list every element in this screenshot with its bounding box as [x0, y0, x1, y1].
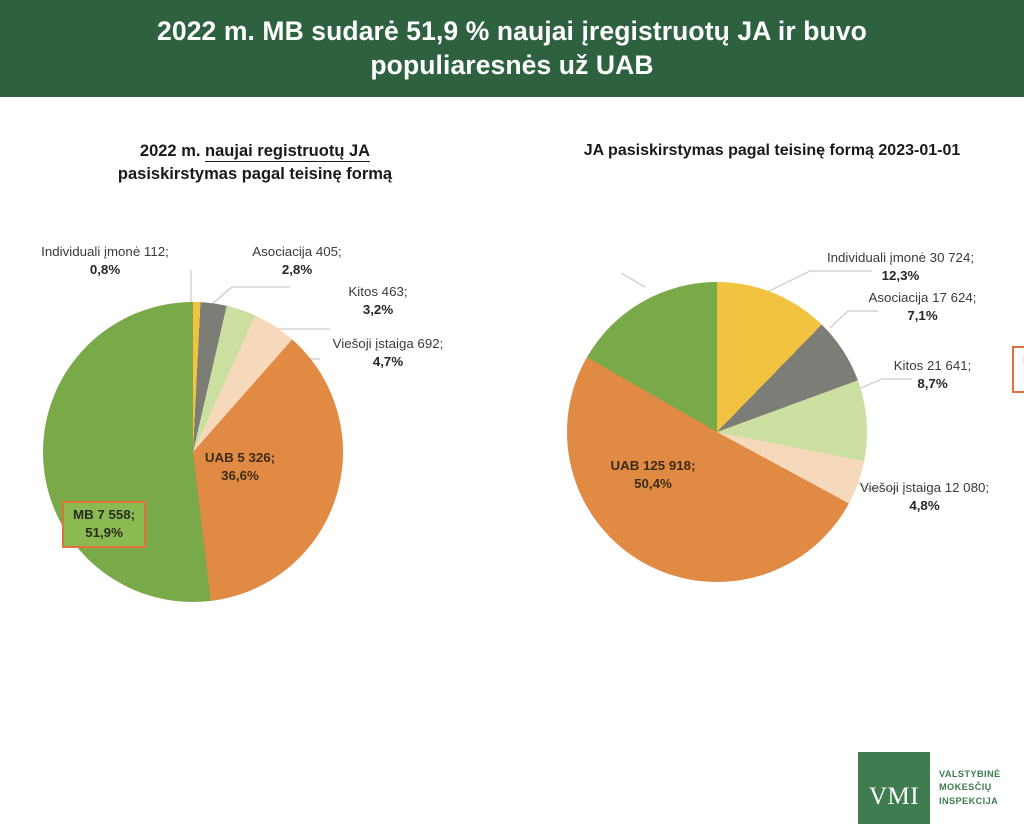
vmi-logo: VMI VALSTYBINĖ MOKESČIŲ INSPEKCIJA [858, 752, 1010, 824]
vmi-logo-word-1: VALSTYBINĖ [939, 768, 1001, 781]
right-label-individuali-imone: Individuali įmonė 30 724; 12,3% [788, 249, 1013, 285]
slide-title-line-1: 2022 m. MB sudarė 51,9 % naujai įregistr… [157, 16, 867, 46]
vmi-logo-mark-text: VMI [869, 783, 919, 811]
left-label-individuali-imone: Individuali įmonė 112; 0,8% [10, 243, 200, 279]
right-label-mb-highlight: MB 41 708; 16,7% [1012, 346, 1024, 393]
right-pie-chart [567, 282, 867, 582]
right-chart-title: JA pasiskirstymas pagal teisinę formą 20… [522, 140, 1022, 162]
slide-body: 2022 m. naujai registruotų JA pasiskirst… [0, 97, 1024, 737]
left-chart-title: 2022 m. naujai registruotų JA pasiskirst… [60, 140, 450, 186]
slide-title: 2022 m. MB sudarė 51,9 % naujai įregistr… [62, 15, 962, 83]
slide-header-band: 2022 m. MB sudarė 51,9 % naujai įregistr… [0, 0, 1024, 97]
left-chart-title-line-1: 2022 m. naujai registruotų JA [140, 140, 370, 163]
left-label-mb-highlight: MB 7 558; 51,9% [62, 501, 146, 548]
left-chart-panel: 2022 m. naujai registruotų JA pasiskirst… [0, 97, 500, 657]
right-label-uab: UAB 125 918; 50,4% [568, 457, 738, 493]
vmi-logo-mark: VMI [858, 752, 930, 824]
vmi-logo-wordmark: VALSTYBINĖ MOKESČIŲ INSPEKCIJA [939, 768, 1001, 807]
right-label-asociacija: Asociacija 17 624; 7,1% [830, 289, 1015, 325]
slide-title-line-2: populiaresnės už UAB [370, 50, 653, 80]
right-label-kitos: Kitos 21 641; 8,7% [855, 357, 1010, 393]
vmi-logo-word-2: MOKESČIŲ [939, 781, 1001, 794]
vmi-logo-word-3: INSPEKCIJA [939, 795, 1001, 808]
left-label-viesoji-istaiga: Viešoji įstaiga 692; 4,7% [298, 335, 478, 371]
left-chart-title-line-2: pasiskirstymas pagal teisinę formą [118, 165, 392, 183]
left-label-kitos: Kitos 463; 3,2% [318, 283, 438, 319]
left-chart-title-prefix: 2022 m. [140, 142, 205, 160]
left-chart-title-underlined: naujai registruotų JA [205, 142, 370, 162]
left-label-asociacija: Asociacija 405; 2,8% [222, 243, 372, 279]
right-chart-panel: JA pasiskirstymas pagal teisinę formą 20… [500, 97, 1024, 657]
right-label-viesoji-istaiga: Viešoji įstaiga 12 080; 4,8% [832, 479, 1017, 515]
left-label-uab: UAB 5 326; 36,6% [160, 449, 320, 485]
